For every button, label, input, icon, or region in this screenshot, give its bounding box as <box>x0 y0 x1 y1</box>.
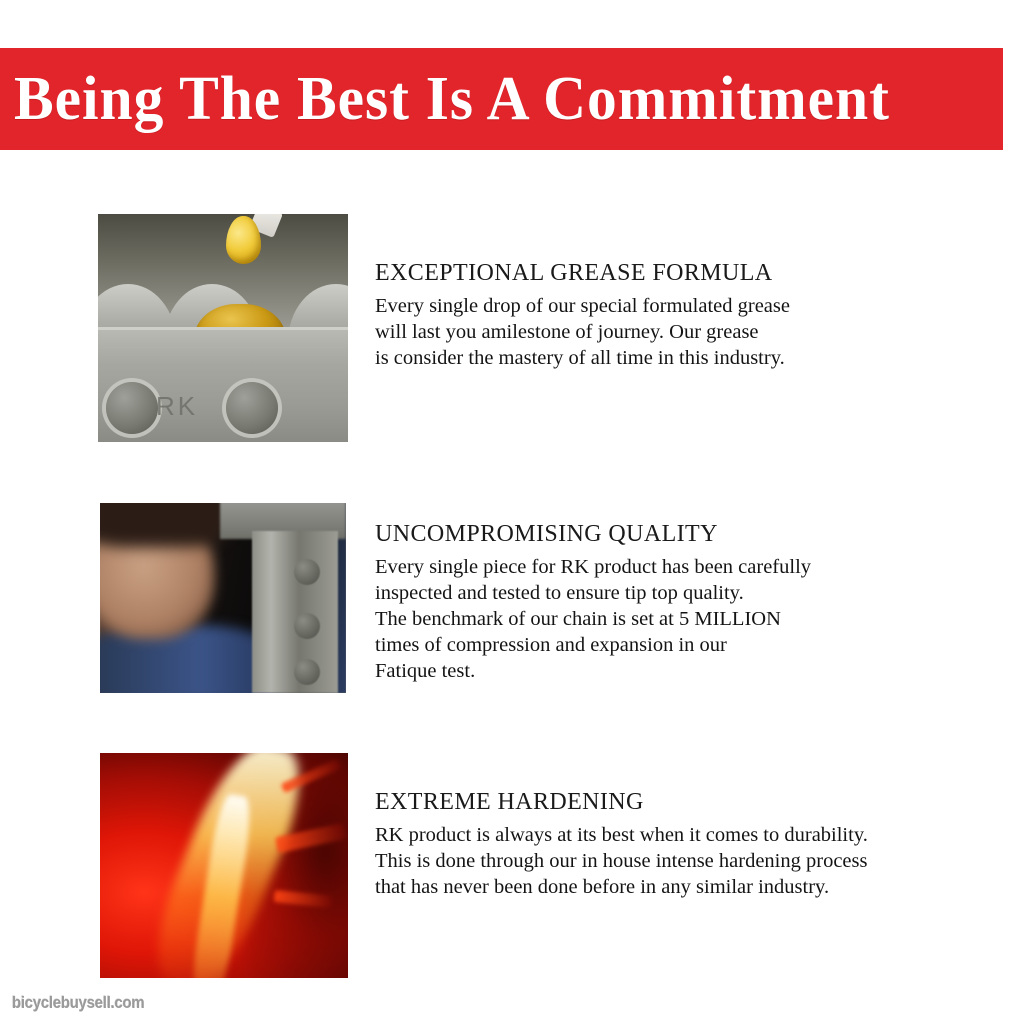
chain-grease-drop-photo: RK <box>98 214 348 442</box>
feature-heading-quality: UNCOMPROMISING QUALITY <box>375 520 985 548</box>
chain-brand-label: RK <box>156 391 198 422</box>
page-banner: Being The Best Is A Commitment <box>0 48 1003 150</box>
feature-body-hardening: RK product is always at its best when it… <box>375 822 1015 900</box>
feature-heading-grease: EXCEPTIONAL GREASE FORMULA <box>375 259 975 287</box>
chain-pin-icon <box>294 659 320 685</box>
chain-roller-icon <box>226 382 278 434</box>
feature-body-grease: Every single drop of our special formula… <box>375 293 975 371</box>
chain-plate-icon: RK <box>98 327 348 442</box>
feature-text-hardening: EXTREME HARDENING RK product is always a… <box>375 788 1015 900</box>
feature-text-quality: UNCOMPROMISING QUALITY Every single piec… <box>375 520 985 684</box>
grease-photo-art: RK <box>98 214 348 442</box>
quality-photo-art <box>100 503 346 693</box>
chain-roller-icon <box>106 382 158 434</box>
red-hot-hardening-furnace-photo <box>100 753 348 978</box>
feature-heading-hardening: EXTREME HARDENING <box>375 788 1015 816</box>
feature-text-grease: EXCEPTIONAL GREASE FORMULA Every single … <box>375 259 975 371</box>
site-watermark: bicyclebuysell.com <box>12 993 144 1013</box>
grease-droplet-icon <box>226 216 261 264</box>
feature-body-quality: Every single piece for RK product has be… <box>375 554 985 684</box>
page-title: Being The Best Is A Commitment <box>14 68 890 130</box>
chain-pin-icon <box>294 559 320 585</box>
worker-hair-icon <box>100 503 230 547</box>
hardening-photo-art <box>100 753 348 978</box>
chain-quality-inspection-photo <box>100 503 346 693</box>
chain-pin-icon <box>294 613 320 639</box>
